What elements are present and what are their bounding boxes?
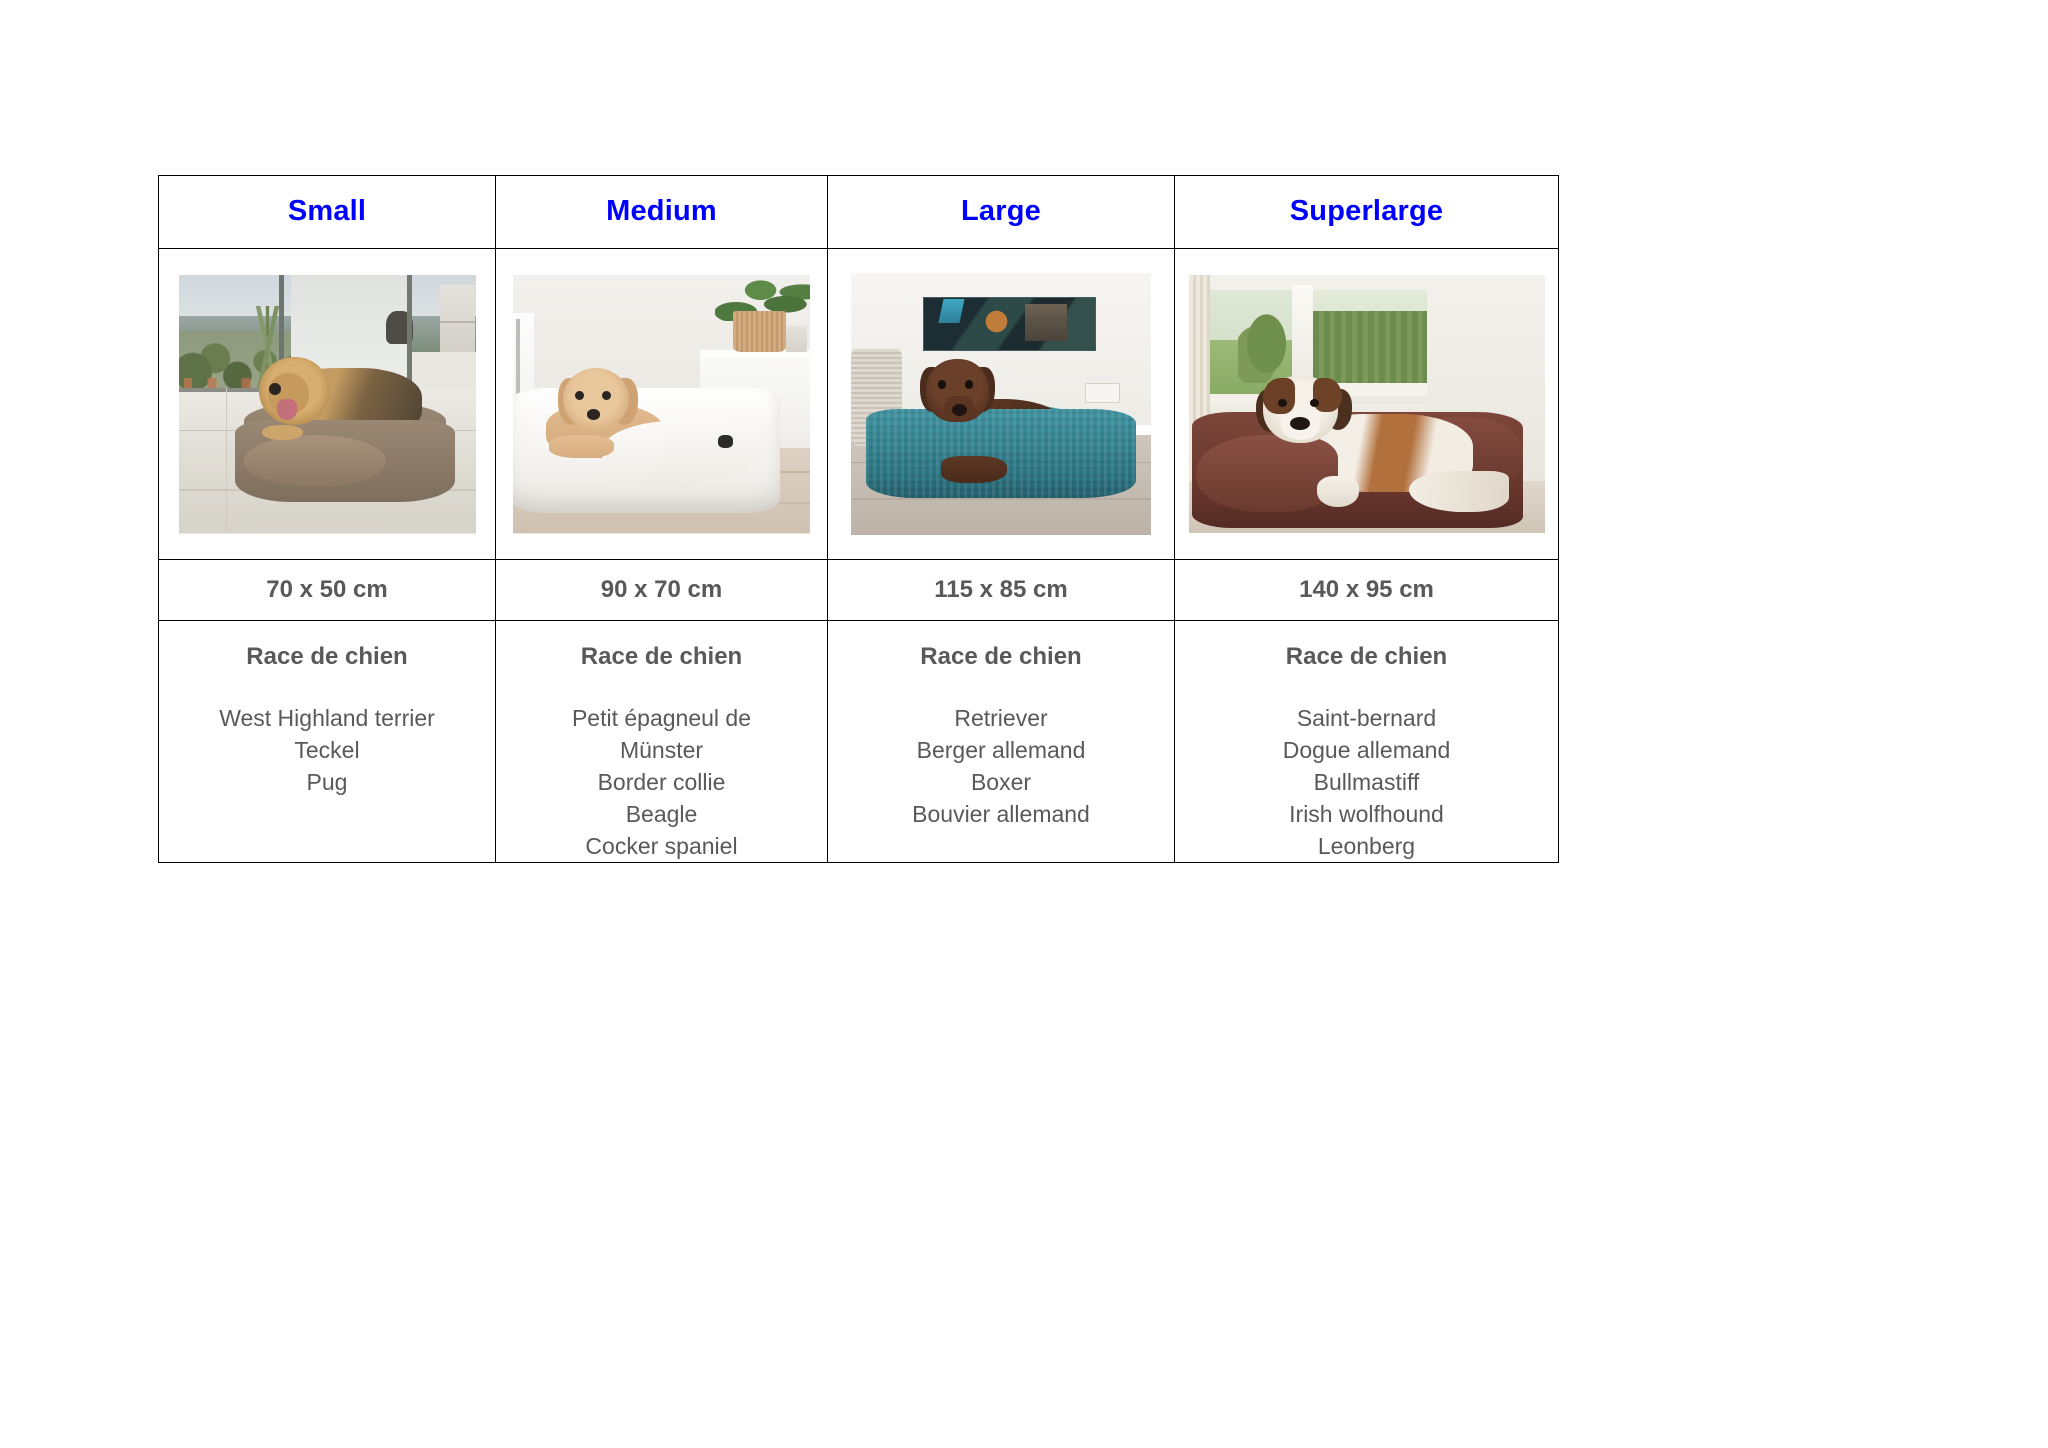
breed-item: Petit épagneul de: [504, 702, 819, 734]
photo-bed-label: [718, 435, 733, 448]
breeds-list-small: West Highland terrier Teckel Pug: [167, 702, 487, 798]
breed-item: Retriever: [836, 702, 1166, 734]
dimensions-superlarge: 140 x 95 cm: [1175, 578, 1558, 602]
photo-cell-large: [828, 249, 1175, 560]
photo-dog-paw: [941, 456, 1007, 482]
photo-dog-eye-right: [1310, 399, 1319, 407]
breeds-cell-medium: Race de chien Petit épagneul de Münster …: [496, 621, 828, 863]
photo-cabinet: [440, 285, 476, 352]
breeds-list-superlarge: Saint-bernard Dogue allemand Bullmastiff…: [1183, 702, 1550, 862]
breed-item: Boxer: [836, 766, 1166, 798]
product-photo-superlarge: [1189, 275, 1545, 533]
header-cell-large: Large: [828, 176, 1175, 249]
breeds-title-medium: Race de chien: [504, 643, 819, 672]
product-photo-medium: [513, 275, 810, 534]
table-photo-row: [159, 249, 1559, 560]
breeds-block-small: Race de chien West Highland terrier Teck…: [159, 621, 495, 798]
breeds-title-small: Race de chien: [167, 643, 487, 672]
breed-item: Teckel: [167, 734, 487, 766]
table-breeds-row: Race de chien West Highland terrier Teck…: [159, 621, 1559, 863]
product-photo-large: [851, 273, 1151, 535]
size-header-medium: Medium: [496, 197, 827, 228]
breeds-cell-large: Race de chien Retriever Berger allemand …: [828, 621, 1175, 863]
photo-artwork-gray-shape: [1025, 304, 1067, 341]
photo-dog-nose: [587, 409, 600, 419]
photo-dog-face-patch-left: [1263, 378, 1295, 414]
photo-tree: [1238, 301, 1295, 384]
photo-cell-small: [159, 249, 496, 560]
breeds-list-medium: Petit épagneul de Münster Border collie …: [504, 702, 819, 862]
photo-hedge: [1313, 311, 1427, 383]
photo-dog-tongue: [277, 399, 298, 420]
breed-item: Dogue allemand: [1183, 734, 1550, 766]
table-header-row: Small Medium Large Superlarge: [159, 176, 1559, 249]
dimensions-medium: 90 x 70 cm: [496, 578, 827, 602]
breeds-title-superlarge: Race de chien: [1183, 643, 1550, 672]
photo-window-bar: [516, 319, 520, 402]
photo-window-frame-right: [407, 275, 412, 394]
photo-dog-head: [563, 368, 628, 430]
breed-item: Irish wolfhound: [1183, 798, 1550, 830]
page-root: Small Medium Large Superlarge: [0, 0, 2048, 1448]
photo-wall-socket: [1085, 383, 1120, 403]
photo-dog-nose: [269, 383, 281, 395]
product-photo-small: [179, 275, 476, 534]
breed-item: West Highland terrier: [167, 702, 487, 734]
photo-dog-paws: [549, 435, 614, 458]
breed-item: Leonberg: [1183, 830, 1550, 862]
breeds-title-large: Race de chien: [836, 643, 1166, 672]
breed-item: Saint-bernard: [1183, 702, 1550, 734]
photo-artwork-orange-shape: [983, 302, 1010, 341]
size-header-large: Large: [828, 197, 1174, 228]
photo-dog-front-paw: [1317, 476, 1360, 507]
breeds-cell-superlarge: Race de chien Saint-bernard Dogue allema…: [1175, 621, 1559, 863]
breed-item: Münster: [504, 734, 819, 766]
photo-dog-eye-left: [1278, 399, 1287, 407]
dog-bed-size-table: Small Medium Large Superlarge: [158, 175, 1559, 863]
breed-item: Berger allemand: [836, 734, 1166, 766]
dimensions-cell-large: 115 x 85 cm: [828, 560, 1175, 621]
dimensions-cell-small: 70 x 50 cm: [159, 560, 496, 621]
header-cell-small: Small: [159, 176, 496, 249]
photo-dog-face-patch-right: [1313, 378, 1341, 412]
photo-dog-nose: [952, 404, 967, 416]
breed-item: Pug: [167, 766, 487, 798]
photo-plank-seam-b: [851, 498, 1151, 499]
photo-cell-medium: [496, 249, 828, 560]
breed-item: Bullmastiff: [1183, 766, 1550, 798]
dimensions-large: 115 x 85 cm: [828, 578, 1174, 602]
photo-cell-superlarge: [1175, 249, 1559, 560]
table-dimensions-row: 70 x 50 cm 90 x 70 cm 115 x 85 cm 140 x …: [159, 560, 1559, 621]
dimensions-cell-medium: 90 x 70 cm: [496, 560, 828, 621]
photo-cabinet-line: [440, 321, 476, 322]
breeds-block-large: Race de chien Retriever Berger allemand …: [828, 621, 1174, 830]
breeds-block-superlarge: Race de chien Saint-bernard Dogue allema…: [1175, 621, 1558, 862]
breed-item: Bouvier allemand: [836, 798, 1166, 830]
breeds-list-large: Retriever Berger allemand Boxer Bouvier …: [836, 702, 1166, 830]
photo-bed-bolster-left: [1196, 435, 1338, 512]
photo-candle: [786, 326, 807, 352]
header-cell-medium: Medium: [496, 176, 828, 249]
photo-woven-basket: [733, 311, 786, 352]
dimensions-cell-superlarge: 140 x 95 cm: [1175, 560, 1559, 621]
breeds-block-medium: Race de chien Petit épagneul de Münster …: [496, 621, 827, 862]
photo-dog-paw: [262, 425, 304, 441]
breed-item: Cocker spaniel: [504, 830, 819, 862]
breeds-cell-small: Race de chien West Highland terrier Teck…: [159, 621, 496, 863]
size-header-small: Small: [159, 197, 495, 228]
breed-item: Border collie: [504, 766, 819, 798]
photo-dog-nose: [1290, 417, 1310, 430]
photo-tile-seam-c: [226, 388, 227, 533]
breed-item: Beagle: [504, 798, 819, 830]
header-cell-superlarge: Superlarge: [1175, 176, 1559, 249]
photo-bed-texture: [866, 409, 1136, 498]
photo-bed-bolster: [244, 435, 387, 487]
dimensions-small: 70 x 50 cm: [159, 578, 495, 602]
size-header-superlarge: Superlarge: [1175, 197, 1558, 228]
